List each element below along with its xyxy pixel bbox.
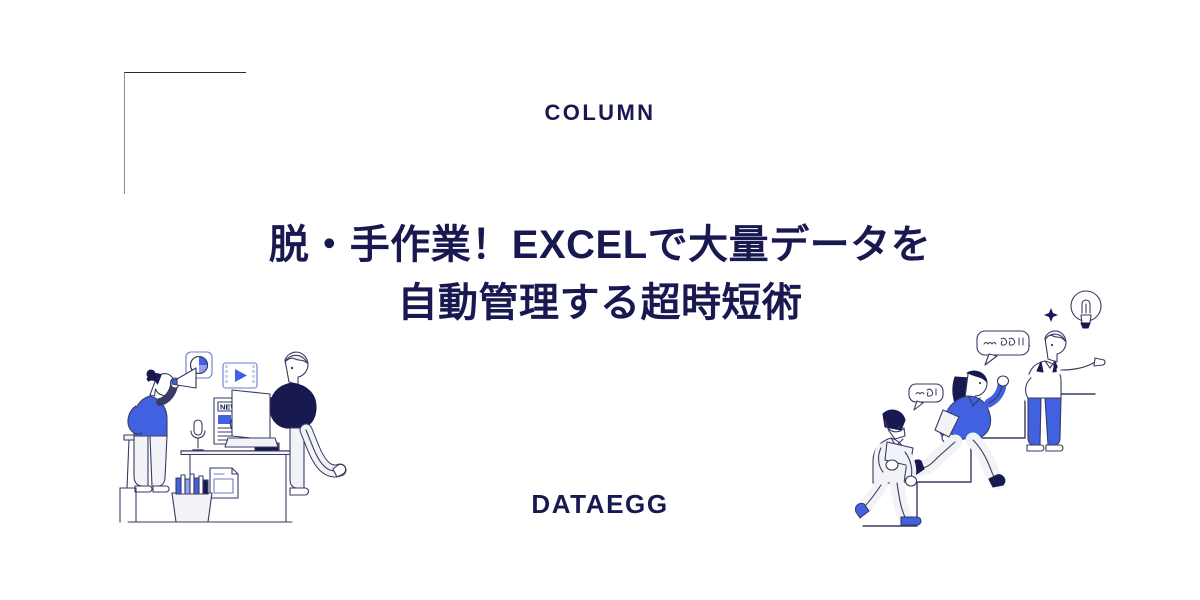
career-stairs-illustration (855, 282, 1140, 544)
page-title-line-1: 脱・手作業！EXCELで大量データを (0, 216, 1200, 274)
column-banner: COLUMN 脱・手作業！EXCELで大量データを 自動管理する超時短術 DAT… (0, 0, 1200, 600)
media-team-desk-illustration: NEWS (110, 338, 360, 538)
eyebrow-label: COLUMN (0, 98, 1200, 128)
corner-bracket-decoration (124, 72, 246, 194)
